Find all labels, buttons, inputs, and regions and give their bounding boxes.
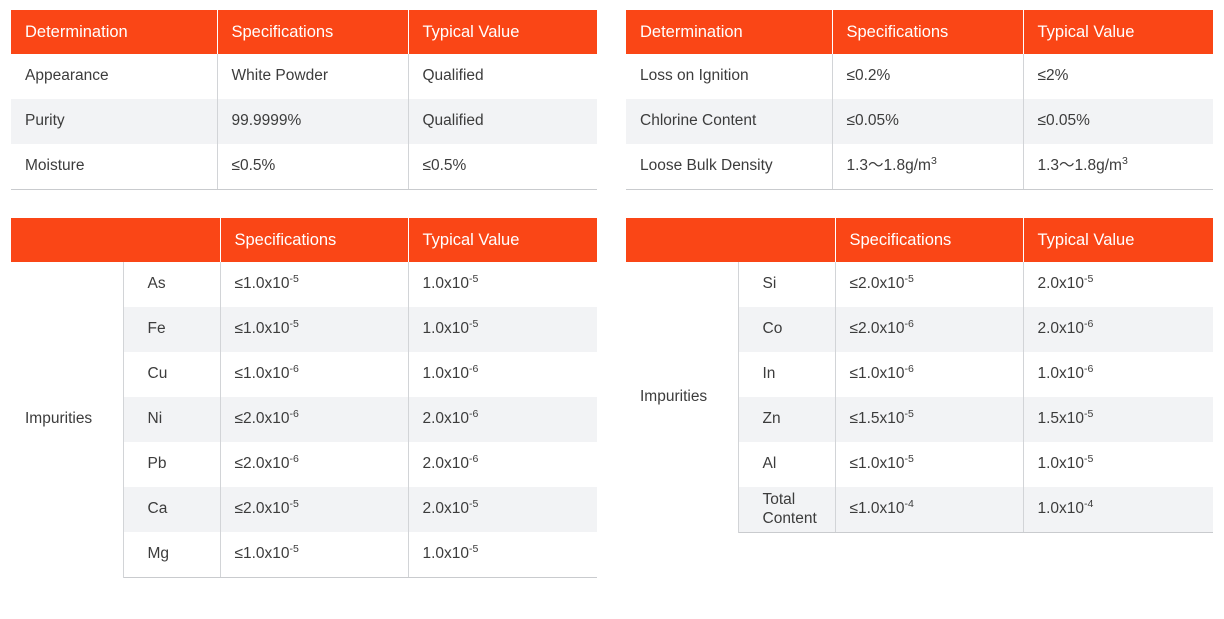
table-row: Chlorine Content ≤0.05% ≤0.05% [626, 99, 1213, 144]
spec-sheet-page: Determination Specifications Typical Val… [0, 0, 1224, 619]
table-header: Specifications Typical Value [11, 218, 597, 262]
cell-typical-value: 2.0x10-6 [1023, 307, 1213, 352]
value-exponent: -5 [1084, 273, 1093, 285]
cell-specification: ≤2.0x10-5 [835, 262, 1023, 307]
value-base: ≤1.0x10 [235, 320, 290, 337]
column-header-specifications: Specifications [832, 10, 1023, 54]
value-exponent: -6 [905, 363, 914, 375]
column-header-determination: Determination [626, 10, 832, 54]
value-base: 1.0x10 [423, 545, 470, 562]
group-label-impurities: Impurities [11, 262, 123, 578]
cell-determination: Chlorine Content [626, 99, 832, 144]
group-label-impurities: Impurities [626, 262, 738, 533]
cell-typical-value: Qualified [408, 99, 597, 144]
cell-specification: ≤2.0x10-6 [220, 442, 408, 487]
cell-impurity-symbol: Si [738, 262, 835, 307]
determination-table-left: Determination Specifications Typical Val… [11, 10, 597, 190]
value-base: 1.0x10 [423, 320, 470, 337]
determination-table-right: Determination Specifications Typical Val… [626, 10, 1213, 190]
column-header-blank [11, 218, 220, 262]
value-base: 1.3～1.8g/m [847, 157, 931, 174]
value-exponent: -6 [469, 408, 478, 420]
table-row: Purity 99.9999% Qualified [11, 99, 597, 144]
table-row: Loose Bulk Density 1.3～1.8g/m3 1.3～1.8g/… [626, 144, 1213, 190]
cell-specification: ≤1.0x10-5 [220, 262, 408, 307]
column-header-typical-value: Typical Value [408, 218, 597, 262]
value-exponent: -6 [290, 363, 299, 375]
value-exponent: -5 [469, 543, 478, 555]
header-row: Determination Specifications Typical Val… [11, 10, 597, 54]
value-base: ≤1.0x10 [850, 455, 905, 472]
cell-determination: Loose Bulk Density [626, 144, 832, 190]
cell-specification: ≤1.0x10-5 [220, 532, 408, 578]
table-header: Determination Specifications Typical Val… [626, 10, 1213, 54]
value-exponent: -6 [290, 408, 299, 420]
table-row: Moisture ≤0.5% ≤0.5% [11, 144, 597, 190]
cell-specification: ≤1.0x10-5 [835, 442, 1023, 487]
value-exponent: 3 [931, 155, 937, 167]
value-exponent: -5 [290, 318, 299, 330]
header-row: Specifications Typical Value [626, 218, 1213, 262]
value-base: ≤2.0x10 [850, 320, 905, 337]
value-base: 1.3～1.8g/m [1038, 157, 1122, 174]
cell-typical-value: 1.0x10-5 [1023, 442, 1213, 487]
value-exponent: -6 [469, 363, 478, 375]
impurities-table-right: Specifications Typical Value Impurities … [626, 218, 1213, 533]
cell-determination: Loss on Ignition [626, 54, 832, 99]
value-exponent: -5 [469, 498, 478, 510]
value-base: 2.0x10 [423, 455, 470, 472]
cell-specification: ≤1.0x10-6 [220, 352, 408, 397]
cell-typical-value: Qualified [408, 54, 597, 99]
cell-impurity-symbol: Fe [123, 307, 220, 352]
column-header-specifications: Specifications [835, 218, 1023, 262]
impurities-table-left: Specifications Typical Value Impurities … [11, 218, 597, 578]
table-row: Loss on Ignition ≤0.2% ≤2% [626, 54, 1213, 99]
value-exponent: -6 [469, 453, 478, 465]
value-base: ≤1.0x10 [850, 365, 905, 382]
cell-specification: ≤1.0x10-6 [835, 352, 1023, 397]
value-exponent: -4 [905, 498, 914, 510]
value-base: ≤1.0x10 [235, 365, 290, 382]
value-exponent: -5 [1084, 453, 1093, 465]
cell-typical-value: ≤0.05% [1023, 99, 1213, 144]
cell-typical-value: ≤0.5% [408, 144, 597, 190]
cell-specification: 99.9999% [217, 99, 408, 144]
cell-specification: ≤2.0x10-5 [220, 487, 408, 532]
cell-typical-value: ≤2% [1023, 54, 1213, 99]
table-body: Impurities Si ≤2.0x10-5 2.0x10-5 Co ≤2.0… [626, 262, 1213, 533]
column-header-typical-value: Typical Value [1023, 10, 1213, 54]
cell-typical-value: 2.0x10-6 [408, 397, 597, 442]
cell-impurity-symbol: TotalContent [738, 487, 835, 533]
cell-specification: 1.3～1.8g/m3 [832, 144, 1023, 190]
value-exponent: -5 [290, 543, 299, 555]
value-base: ≤1.0x10 [850, 500, 905, 517]
value-base: 1.0x10 [1038, 455, 1085, 472]
value-base: 1.0x10 [1038, 365, 1085, 382]
value-base: ≤2.0x10 [235, 455, 290, 472]
value-exponent: -6 [290, 453, 299, 465]
value-base: ≤1.0x10 [235, 545, 290, 562]
table-row: Impurities Si ≤2.0x10-5 2.0x10-5 [626, 262, 1213, 307]
cell-specification: ≤1.5x10-5 [835, 397, 1023, 442]
cell-impurity-symbol: Cu [123, 352, 220, 397]
value-base: ≤1.5x10 [850, 410, 905, 427]
cell-impurity-symbol: Ca [123, 487, 220, 532]
table-body: Impurities As ≤1.0x10-5 1.0x10-5 Fe ≤1.0… [11, 262, 597, 578]
value-exponent: -5 [1084, 408, 1093, 420]
cell-typical-value: 1.0x10-4 [1023, 487, 1213, 533]
value-base: 2.0x10 [1038, 275, 1085, 292]
cell-specification: ≤0.2% [832, 54, 1023, 99]
cell-determination: Appearance [11, 54, 217, 99]
value-base: 2.0x10 [1038, 320, 1085, 337]
value-base: 2.0x10 [423, 500, 470, 517]
value-base: 1.0x10 [423, 365, 470, 382]
column-header-determination: Determination [11, 10, 217, 54]
cell-specification: ≤1.0x10-4 [835, 487, 1023, 533]
cell-specification: ≤1.0x10-5 [220, 307, 408, 352]
table-header: Determination Specifications Typical Val… [11, 10, 597, 54]
value-base: 1.0x10 [423, 275, 470, 292]
cell-determination: Purity [11, 99, 217, 144]
value-exponent: -5 [290, 273, 299, 285]
cell-specification: ≤0.5% [217, 144, 408, 190]
cell-specification: White Powder [217, 54, 408, 99]
header-row: Specifications Typical Value [11, 218, 597, 262]
cell-impurity-symbol: Co [738, 307, 835, 352]
table-header: Specifications Typical Value [626, 218, 1213, 262]
cell-specification: ≤2.0x10-6 [835, 307, 1023, 352]
value-base: ≤1.0x10 [235, 275, 290, 292]
cell-typical-value: 1.5x10-5 [1023, 397, 1213, 442]
column-header-typical-value: Typical Value [408, 10, 597, 54]
value-exponent: -5 [469, 318, 478, 330]
value-exponent: -6 [905, 318, 914, 330]
value-exponent: -5 [905, 408, 914, 420]
value-base: 1.5x10 [1038, 410, 1085, 427]
cell-impurity-symbol: Pb [123, 442, 220, 487]
cell-typical-value: 2.0x10-6 [408, 442, 597, 487]
cell-typical-value: 1.0x10-6 [1023, 352, 1213, 397]
cell-typical-value: 1.0x10-5 [408, 262, 597, 307]
cell-specification: ≤2.0x10-6 [220, 397, 408, 442]
cell-typical-value: 1.0x10-5 [408, 532, 597, 578]
value-base: ≤2.0x10 [850, 275, 905, 292]
value-base: 1.0x10 [1038, 500, 1085, 517]
column-header-blank [626, 218, 835, 262]
cell-impurity-symbol: Ni [123, 397, 220, 442]
cell-impurity-symbol: Al [738, 442, 835, 487]
column-header-specifications: Specifications [217, 10, 408, 54]
value-exponent: -5 [905, 453, 914, 465]
cell-typical-value: 1.0x10-6 [408, 352, 597, 397]
value-base: 2.0x10 [423, 410, 470, 427]
cell-typical-value: 1.3～1.8g/m3 [1023, 144, 1213, 190]
cell-impurity-symbol: Mg [123, 532, 220, 578]
cell-typical-value: 2.0x10-5 [408, 487, 597, 532]
table-row: Impurities As ≤1.0x10-5 1.0x10-5 [11, 262, 597, 307]
cell-impurity-symbol: Zn [738, 397, 835, 442]
header-row: Determination Specifications Typical Val… [626, 10, 1213, 54]
cell-typical-value: 2.0x10-5 [1023, 262, 1213, 307]
value-exponent: -5 [469, 273, 478, 285]
table-body: Loss on Ignition ≤0.2% ≤2% Chlorine Cont… [626, 54, 1213, 190]
table-row: Appearance White Powder Qualified [11, 54, 597, 99]
value-exponent: -5 [905, 273, 914, 285]
cell-typical-value: 1.0x10-5 [408, 307, 597, 352]
cell-impurity-symbol: As [123, 262, 220, 307]
table-body: Appearance White Powder Qualified Purity… [11, 54, 597, 190]
value-base: ≤2.0x10 [235, 500, 290, 517]
cell-specification: ≤0.05% [832, 99, 1023, 144]
column-header-typical-value: Typical Value [1023, 218, 1213, 262]
column-header-specifications: Specifications [220, 218, 408, 262]
value-base: ≤2.0x10 [235, 410, 290, 427]
value-exponent: -5 [290, 498, 299, 510]
value-exponent: -4 [1084, 498, 1093, 510]
value-exponent: 3 [1122, 155, 1128, 167]
cell-impurity-symbol: In [738, 352, 835, 397]
value-exponent: -6 [1084, 363, 1093, 375]
value-exponent: -6 [1084, 318, 1093, 330]
cell-determination: Moisture [11, 144, 217, 190]
